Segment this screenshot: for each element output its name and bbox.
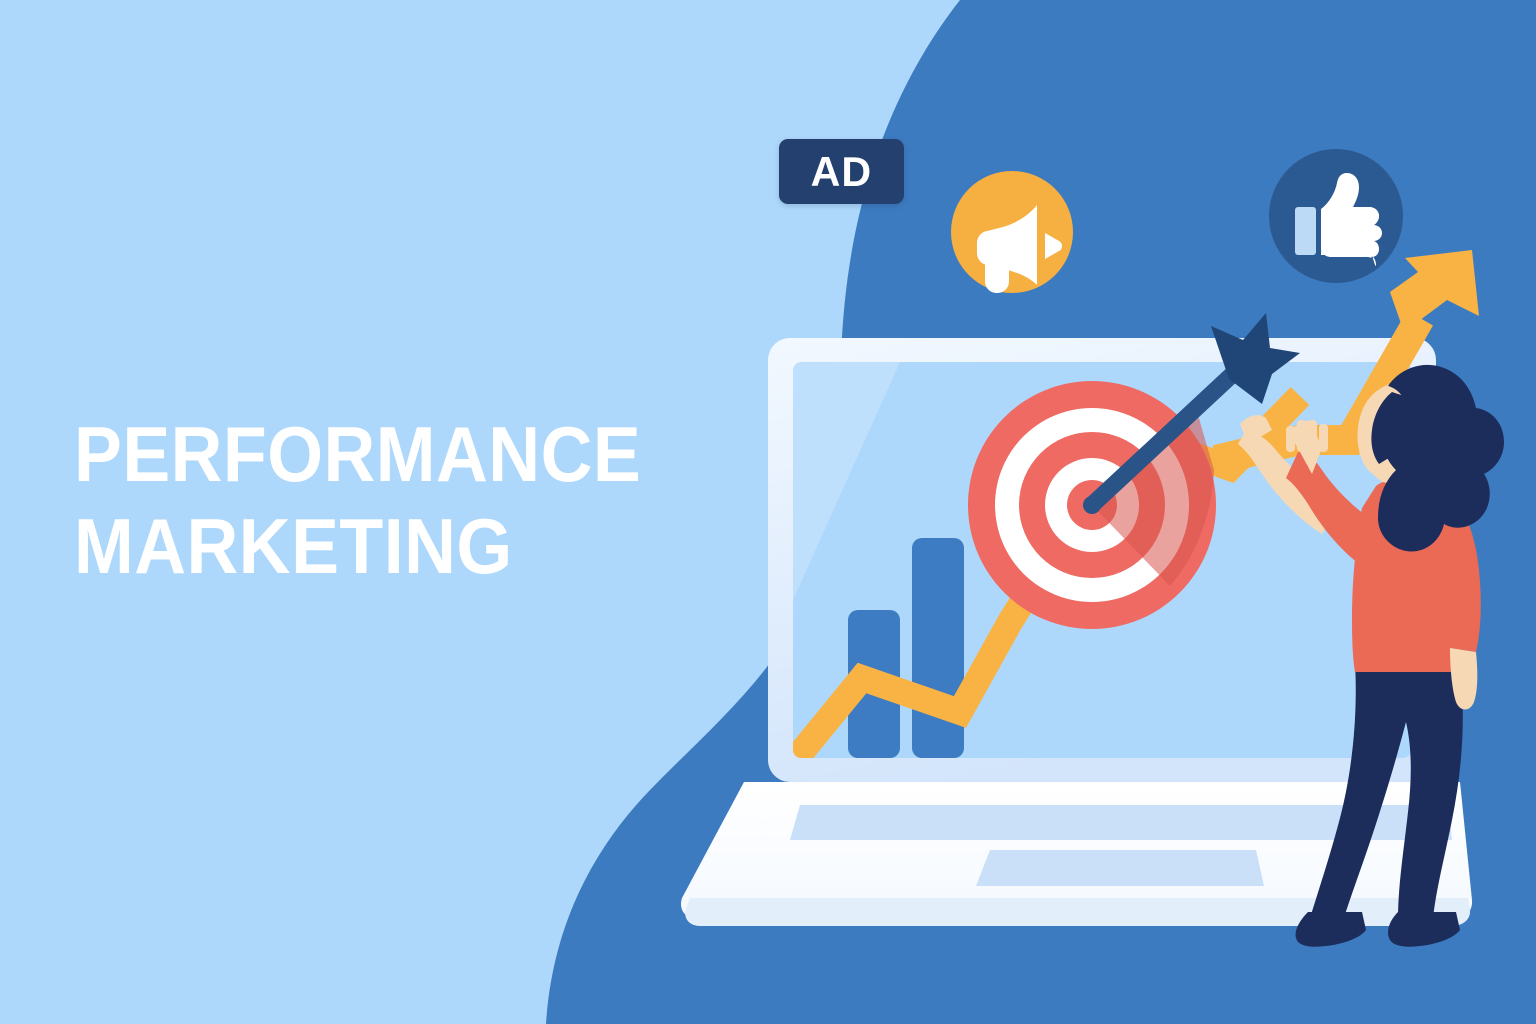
headline-line-2: MARKETING	[74, 500, 681, 592]
ad-badge[interactable]: AD	[779, 139, 904, 204]
marketer-person	[1238, 365, 1504, 947]
person-legs	[1310, 663, 1463, 918]
person-shoe-left	[1296, 912, 1366, 947]
like-badge[interactable]	[1269, 149, 1403, 283]
megaphone-badge[interactable]	[951, 171, 1073, 293]
person-shoe-right	[1388, 912, 1460, 947]
ad-badge-label: AD	[811, 151, 872, 193]
thumbs-up-icon	[1269, 149, 1403, 283]
page-title: PERFORMANCE MARKETING	[74, 408, 681, 592]
headline-line-1: PERFORMANCE	[74, 408, 681, 500]
illustration-canvas: PERFORMANCE MARKETING AD	[0, 0, 1536, 1024]
megaphone-icon	[951, 171, 1073, 293]
